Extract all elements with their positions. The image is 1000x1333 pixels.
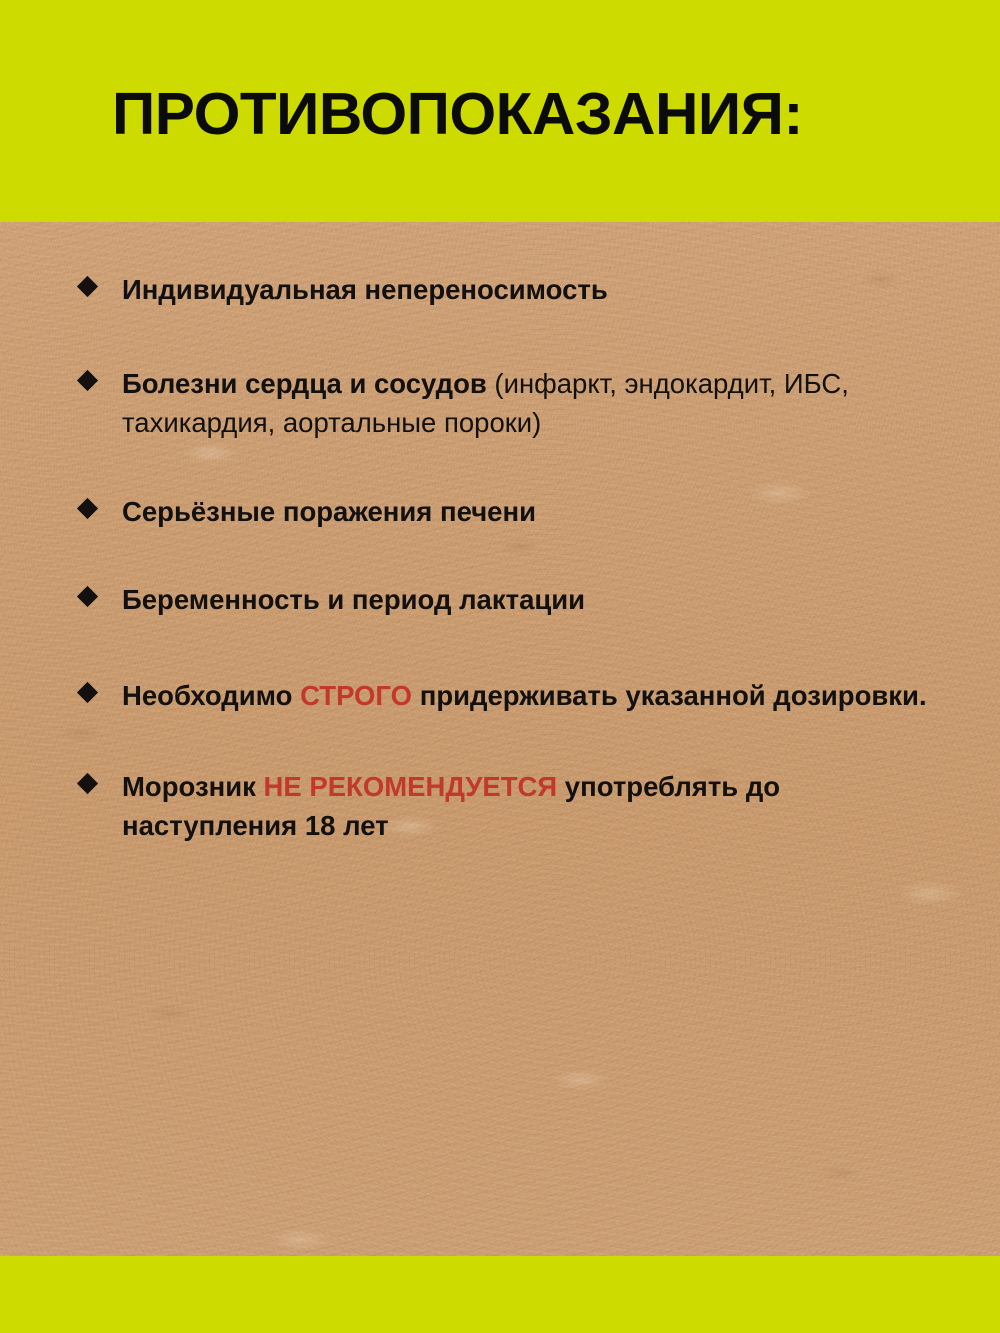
contraindications-list: Индивидуальная непереносимость Болезни с… [0, 270, 1000, 845]
list-item-text-0: Болезни сердца и сосудов [122, 368, 487, 399]
list-item: Болезни сердца и сосудов (инфаркт, эндок… [0, 364, 1000, 442]
list-item-text-0: Необходимо [122, 680, 300, 711]
bottom-accent-band [0, 1256, 1000, 1333]
list-item-highlight: НЕ РЕКОМЕНДУЕТСЯ [264, 771, 558, 802]
list-item-highlight: СТРОГО [300, 680, 412, 711]
list-item: Серьёзные поражения печени [0, 492, 1000, 531]
list-item: Индивидуальная непереносимость [0, 270, 1000, 309]
list-item-text-0: Беременность и период лактации [122, 584, 585, 615]
list-item: Морозник НЕ РЕКОМЕНДУЕТСЯ употреблять до… [0, 767, 1000, 845]
page-title: ПРОТИВОПОКАЗАНИЯ: [112, 76, 803, 152]
list-item: Необходимо СТРОГО придерживать указанной… [0, 676, 1000, 715]
contraindications-poster: ПРОТИВОПОКАЗАНИЯ: Индивидуальная неперен… [0, 0, 1000, 1333]
list-item-text-0: Серьёзные поражения печени [122, 496, 536, 527]
list-item: Беременность и период лактации [0, 580, 1000, 619]
list-item-text-0: Морозник [122, 771, 264, 802]
list-item-text-0: Индивидуальная непереносимость [122, 274, 608, 305]
list-item-text-2: придерживать указанной дозировки. [412, 680, 927, 711]
